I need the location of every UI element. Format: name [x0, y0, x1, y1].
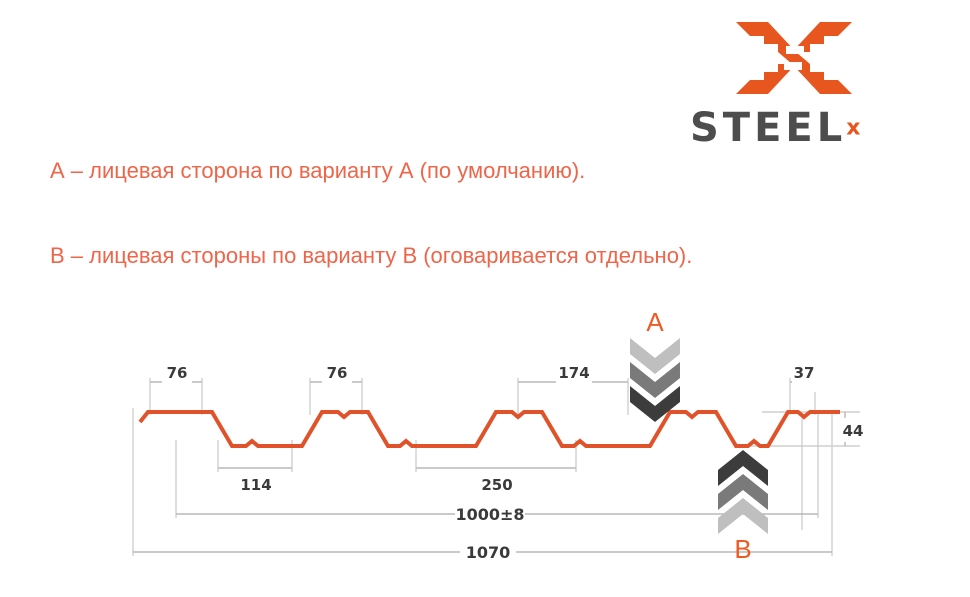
variant-a-label: A — [646, 307, 664, 337]
dim-label-114: 114 — [240, 476, 271, 494]
dim-label-1000: 1000±8 — [455, 505, 524, 524]
brand-wordmark-superscript: x — [846, 116, 860, 141]
dim-label-44: 44 — [843, 422, 864, 440]
profile-cross-section — [140, 412, 840, 446]
dim-label-174: 174 — [558, 364, 589, 382]
variant-b-indicator: B — [718, 450, 768, 564]
brand-wordmark-main: STEEL — [690, 105, 846, 151]
dim-label-76-b: 76 — [327, 364, 348, 382]
caption-variant-b: В – лицевая стороны по варианту В (огова… — [50, 243, 692, 269]
dim-label-250: 250 — [481, 476, 512, 494]
profile-drawing: 76 76 174 37 114 250 44 1000±8 1070 A — [0, 290, 970, 590]
steelx-x-logo-icon — [734, 18, 854, 98]
page-root: STEELx А – лицевая сторона по варианту А… — [0, 0, 970, 597]
dim-label-1070: 1070 — [466, 543, 511, 562]
variant-a-indicator: A — [630, 307, 680, 422]
chevron-up-icon — [718, 450, 768, 534]
brand-logo: STEELx — [690, 18, 905, 143]
dim-label-37: 37 — [794, 364, 815, 382]
caption-variant-a: А – лицевая сторона по варианту А (по ум… — [50, 158, 585, 184]
brand-wordmark: STEELx — [690, 108, 905, 148]
dim-label-76-a: 76 — [167, 364, 188, 382]
chevron-down-icon — [630, 338, 680, 422]
variant-b-label: B — [734, 534, 751, 564]
